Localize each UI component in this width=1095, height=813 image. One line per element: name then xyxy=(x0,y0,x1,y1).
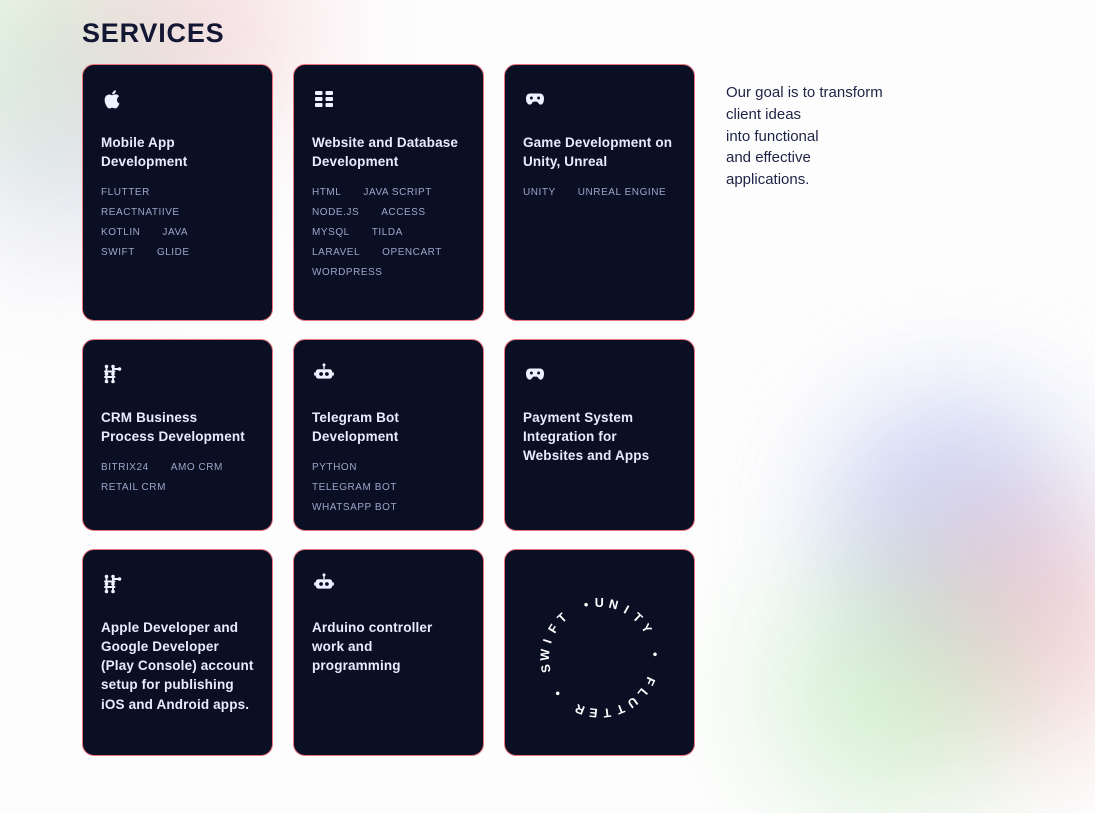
robot-icon xyxy=(312,362,336,386)
circular-text-char: F xyxy=(641,674,657,687)
circular-text-char: R xyxy=(572,700,586,717)
circular-text-char: I xyxy=(540,636,555,644)
goal-line: and effective xyxy=(726,147,956,169)
goal-line: into functional xyxy=(726,126,956,148)
goal-line: client ideas xyxy=(726,104,956,126)
gamepad-icon xyxy=(523,362,547,386)
tech-tag: SWIFT xyxy=(101,245,135,260)
circular-text-ring: UNITY•FLUTTER•SWIFT• xyxy=(538,596,662,720)
circular-text-char: T xyxy=(613,701,626,717)
service-card-tags: HTMLJAVA SCRIPTNODE.JSACCESSMYSQLTILDALA… xyxy=(312,185,465,280)
tech-tag: MYSQL xyxy=(312,225,350,240)
services-page: SERVICES Mobile App DevelopmentFLUTTERRE… xyxy=(0,0,1095,813)
service-card-tags: FLUTTERREACTNATIIVEKOTLINJAVASWIFTGLIDE xyxy=(101,185,254,260)
tech-tag: PYTHON xyxy=(312,460,357,475)
services-card-grid: Mobile App DevelopmentFLUTTERREACTNATIIV… xyxy=(82,64,696,756)
tech-tag: HTML xyxy=(312,185,341,200)
tech-tag: JAVA xyxy=(162,225,188,240)
background-blob-blue-right xyxy=(835,395,1075,645)
service-card-title: Telegram Bot Development xyxy=(312,408,465,446)
tag-row: NODE.JSACCESS xyxy=(312,205,465,220)
tag-row: KOTLINJAVA xyxy=(101,225,254,240)
tech-tag: TELEGRAM BOT xyxy=(312,480,397,495)
tag-row: PYTHON xyxy=(312,460,465,475)
service-card-title: Game Development on Unity, Unreal xyxy=(523,133,676,171)
tag-row: WORDPRESS xyxy=(312,265,465,280)
background-blob-green-right xyxy=(765,560,1015,813)
tech-tag: AMO CRM xyxy=(171,460,223,475)
circular-text-char: N xyxy=(607,596,620,612)
service-card-tags: PYTHONTELEGRAM BOTWHATSAPP BOT xyxy=(312,460,465,515)
circular-text-char: U xyxy=(624,694,640,711)
page-title: SERVICES xyxy=(82,18,224,49)
tech-tag: BITRIX24 xyxy=(101,460,149,475)
tech-tag: REACTNATIIVE xyxy=(101,205,180,220)
circular-text-char: • xyxy=(550,686,564,699)
circular-text-char: T xyxy=(601,705,611,720)
background-blob-lilac-right xyxy=(845,430,1045,630)
tech-tag: KOTLIN xyxy=(101,225,140,240)
robot-icon xyxy=(312,572,336,596)
service-card-title: Payment System Integration for Websites … xyxy=(523,408,676,465)
tech-tag: FLUTTER xyxy=(101,185,150,200)
tech-tag: LARAVEL xyxy=(312,245,360,260)
service-card[interactable]: Mobile App DevelopmentFLUTTERREACTNATIIV… xyxy=(82,64,273,321)
tag-row: RETAIL CRM xyxy=(101,480,254,495)
circular-text-char: • xyxy=(647,651,661,657)
circular-text-char: T xyxy=(629,610,645,626)
tech-tag: ACCESS xyxy=(381,205,425,220)
service-card-title: Mobile App Development xyxy=(101,133,254,171)
circular-text-char: I xyxy=(621,602,631,616)
circular-text-card[interactable]: UNITY•FLUTTER•SWIFT• xyxy=(504,549,695,756)
tech-tag: JAVA SCRIPT xyxy=(363,185,431,200)
network-icon xyxy=(101,362,125,386)
tag-row: TELEGRAM BOT xyxy=(312,480,465,495)
tech-tag: UNITY xyxy=(523,185,556,200)
service-card-tags: UNITYUNREAL ENGINE xyxy=(523,185,676,200)
tech-tag: TILDA xyxy=(372,225,403,240)
tag-row: MYSQLTILDA xyxy=(312,225,465,240)
tech-tag: RETAIL CRM xyxy=(101,480,166,495)
service-card[interactable]: Payment System Integration for Websites … xyxy=(504,339,695,531)
tech-tag: GLIDE xyxy=(157,245,190,260)
grid-icon xyxy=(312,87,336,111)
circular-text-char: W xyxy=(537,647,552,660)
goal-line: applications. xyxy=(726,169,956,191)
network-icon xyxy=(101,572,125,596)
tag-row: UNITYUNREAL ENGINE xyxy=(523,185,676,200)
gamepad-icon xyxy=(523,87,547,111)
tag-row: REACTNATIIVE xyxy=(101,205,254,220)
service-card-title: Website and Database Development xyxy=(312,133,465,171)
circular-text-char: U xyxy=(595,596,605,610)
tag-row: WHATSAPP BOT xyxy=(312,500,465,515)
apple-icon xyxy=(101,87,125,111)
tech-tag: WHATSAPP BOT xyxy=(312,500,397,515)
tech-tag: NODE.JS xyxy=(312,205,359,220)
service-card-title: CRM Business Process Development xyxy=(101,408,254,446)
tech-tag: WORDPRESS xyxy=(312,265,383,280)
service-card[interactable]: CRM Business Process DevelopmentBITRIX24… xyxy=(82,339,273,531)
service-card[interactable]: Apple Developer and Google Developer (Pl… xyxy=(82,549,273,756)
service-card-tags: BITRIX24AMO CRMRETAIL CRM xyxy=(101,460,254,495)
circular-text-char: E xyxy=(587,705,598,720)
circular-text-char: T xyxy=(554,610,570,626)
tag-row: BITRIX24AMO CRM xyxy=(101,460,254,475)
circular-text-char: S xyxy=(538,662,553,673)
circular-text-char: L xyxy=(634,685,650,700)
service-card-title: Apple Developer and Google Developer (Pl… xyxy=(101,618,254,714)
service-card[interactable]: Arduino controller work and programming xyxy=(293,549,484,756)
service-card[interactable]: Website and Database DevelopmentHTMLJAVA… xyxy=(293,64,484,321)
tag-row: HTMLJAVA SCRIPT xyxy=(312,185,465,200)
tag-row: LARAVELOPENCART xyxy=(312,245,465,260)
service-card-title: Arduino controller work and programming xyxy=(312,618,465,675)
circular-text-char: Y xyxy=(638,621,655,636)
goal-line: Our goal is to transform xyxy=(726,82,956,104)
tag-row: SWIFTGLIDE xyxy=(101,245,254,260)
tech-tag: UNREAL ENGINE xyxy=(578,185,666,200)
goal-paragraph: Our goal is to transformclient ideasinto… xyxy=(726,82,956,191)
tag-row: FLUTTER xyxy=(101,185,254,200)
background-blob-pink-right xyxy=(905,500,1095,750)
service-card[interactable]: Game Development on Unity, UnrealUNITYUN… xyxy=(504,64,695,321)
circular-text-char: F xyxy=(545,621,561,635)
service-card[interactable]: Telegram Bot DevelopmentPYTHONTELEGRAM B… xyxy=(293,339,484,531)
tech-tag: OPENCART xyxy=(382,245,442,260)
circular-text-char: • xyxy=(582,597,590,612)
